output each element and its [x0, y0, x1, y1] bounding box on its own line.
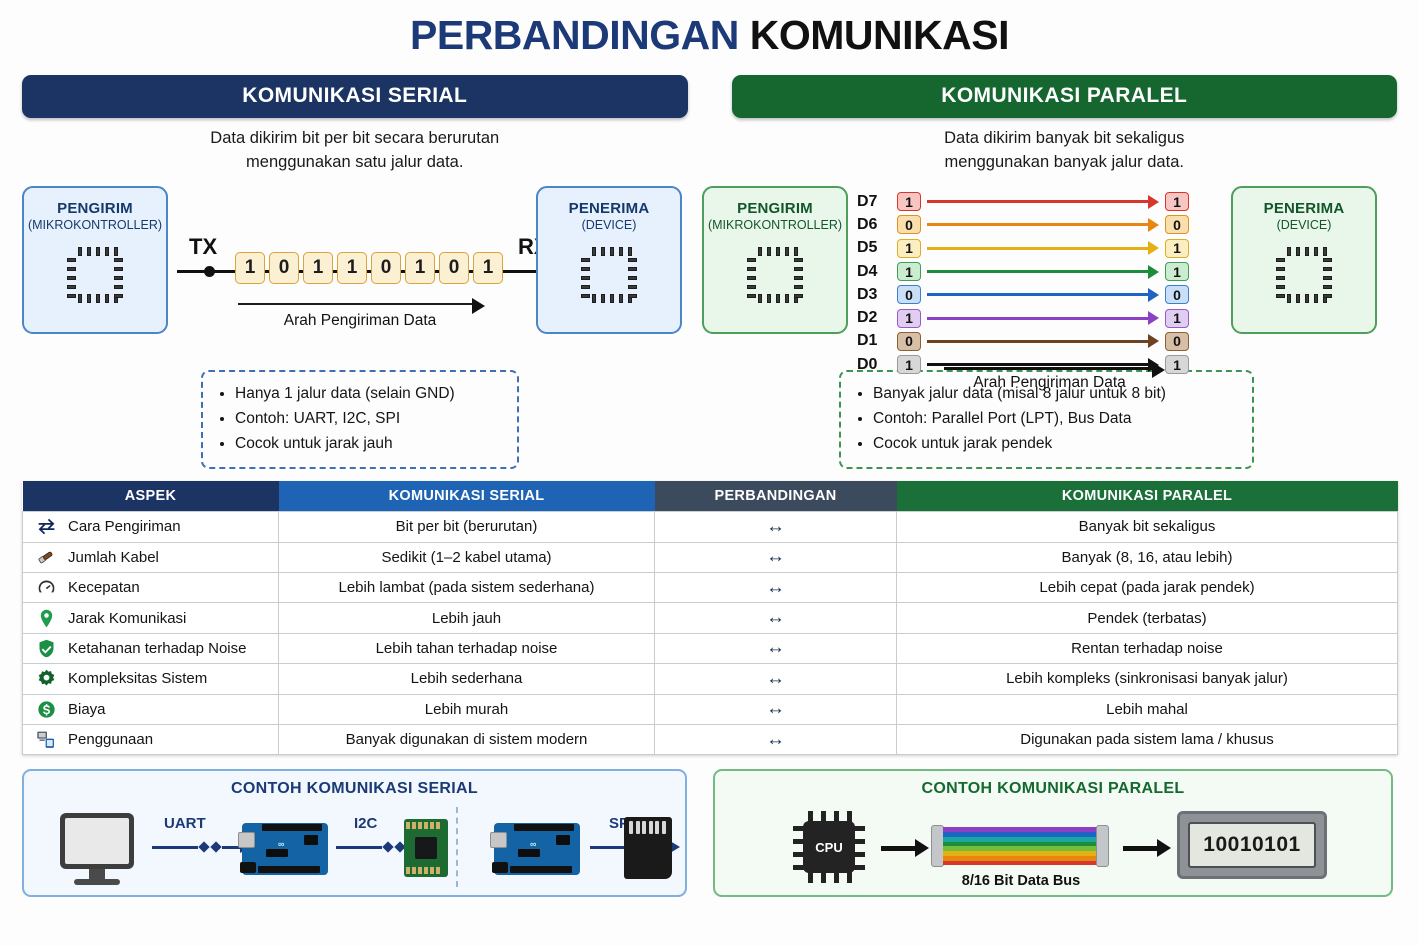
table-row: BiayaLebih murah↔Lebih mahal	[23, 694, 1398, 724]
cell-compare-3: ↔	[655, 603, 897, 633]
i2c-label: I2C	[354, 815, 377, 832]
lane-bit-d3-source: 0	[897, 285, 921, 304]
example-divider	[456, 807, 458, 887]
lane-label-d6: D6	[857, 216, 897, 234]
cable-icon	[35, 546, 57, 568]
header-paralel: KOMUNIKASI PARALEL	[897, 481, 1398, 512]
serial-receiver-title: PENERIMA	[569, 200, 650, 217]
lane-bit-d6-source: 0	[897, 215, 921, 234]
parallel-banner-subtitle: Data dikirim banyak bit sekaligus menggu…	[732, 118, 1398, 174]
table-row: Jumlah KabelSedikit (1–2 kabel utama)↔Ba…	[23, 542, 1398, 572]
transfer-arrows-icon	[35, 516, 57, 538]
serial-direction-label: Arah Pengiriman Data	[235, 312, 485, 330]
lane-label-d4: D4	[857, 263, 897, 281]
dollar-coin-icon	[35, 698, 57, 720]
cell-parallel-0: Banyak bit sekaligus	[897, 512, 1398, 542]
cell-parallel-6: Lebih mahal	[897, 694, 1398, 724]
header-perbandingan: PERBANDINGAN	[655, 481, 897, 512]
parallel-diagram: PENGIRIM (MIKROKONTROLLER) D711D600D511D…	[702, 186, 1377, 366]
cell-compare-7: ↔	[655, 724, 897, 754]
parallel-direction-line	[944, 367, 1154, 370]
serial-sender-title: PENGIRIM	[57, 200, 133, 217]
serial-bit-4: 0	[371, 252, 401, 284]
serial-sender-subtitle: (MIKROKONTROLLER)	[28, 218, 162, 232]
lane-bit-d2-source: 1	[897, 309, 921, 328]
lane-bit-d4-source: 1	[897, 262, 921, 281]
cell-parallel-1: Banyak (8, 16, atau lebih)	[897, 542, 1398, 572]
table-row: Cara PengirimanBit per bit (berurutan)↔B…	[23, 512, 1398, 542]
lane-wire-d1	[927, 340, 1159, 343]
parallel-sender-node: PENGIRIM (MIKROKONTROLLER)	[702, 186, 848, 334]
page-title: PERBANDINGAN KOMUNIKASI	[0, 0, 1419, 59]
serial-bullet-box: Hanya 1 jalur data (selain GND)Contoh: U…	[201, 370, 519, 469]
lane-bit-d1-source: 0	[897, 332, 921, 351]
microcontroller-chip-icon	[66, 246, 124, 304]
serial-bit-stream: 10110101	[235, 252, 503, 284]
table-row: KecepatanLebih lambat (pada sistem seder…	[23, 573, 1398, 603]
cell-aspect-6: Biaya	[23, 694, 279, 724]
cell-parallel-5: Lebih kompleks (sinkronisasi banyak jalu…	[897, 664, 1398, 694]
bullet-row: Hanya 1 jalur data (selain GND)Contoh: U…	[0, 366, 1419, 469]
cell-serial-3: Lebih jauh	[279, 603, 655, 633]
title-part-2: KOMUNIKASI	[750, 12, 1009, 58]
serial-receiver-subtitle: (DEVICE)	[582, 218, 637, 232]
parallel-bullet-1: Contoh: Parallel Port (LPT), Bus Data	[873, 406, 1238, 431]
cell-compare-5: ↔	[655, 664, 897, 694]
lane-wire-d6	[927, 223, 1159, 226]
lane-bit-d6-dest: 0	[1165, 215, 1189, 234]
aspect-label: Kecepatan	[68, 579, 140, 596]
parallel-sender-title: PENGIRIM	[737, 200, 813, 217]
cpu-to-bus-arrow-icon	[881, 839, 929, 857]
lane-label-d3: D3	[857, 286, 897, 304]
serial-example-panel: CONTOH KOMUNIKASI SERIAL UART ∞ I2C	[22, 769, 687, 897]
banner-row: KOMUNIKASI SERIAL Data dikirim bit per b…	[0, 59, 1419, 174]
compare-arrow-icon: ↔	[766, 698, 785, 719]
lane-bit-d5-source: 1	[897, 239, 921, 258]
table-row: Kompleksitas SistemLebih sederhana↔Lebih…	[23, 664, 1398, 694]
parallel-banner: KOMUNIKASI PARALEL	[732, 75, 1398, 118]
lane-wire-d0	[927, 363, 1159, 366]
header-serial: KOMUNIKASI SERIAL	[279, 481, 655, 512]
microcontroller-chip-icon	[746, 246, 804, 304]
serial-diagram: PENGIRIM (MIKROKONTROLLER) TX RX 1011010…	[22, 186, 682, 341]
location-pin-icon	[35, 607, 57, 629]
table-head: ASPEK KOMUNIKASI SERIAL PERBANDINGAN KOM…	[23, 481, 1398, 512]
bus-to-display-arrow-icon	[1123, 839, 1171, 857]
lane-label-d5: D5	[857, 239, 897, 257]
cell-serial-6: Lebih murah	[279, 694, 655, 724]
serial-banner-column: KOMUNIKASI SERIAL Data dikirim bit per b…	[22, 75, 688, 174]
devices-icon	[35, 729, 57, 751]
aspect-label: Jumlah Kabel	[68, 549, 159, 566]
lane-label-d2: D2	[857, 309, 897, 327]
comparison-table-wrapper: ASPEK KOMUNIKASI SERIAL PERBANDINGAN KOM…	[0, 469, 1419, 756]
lane-d6: D600	[857, 213, 1189, 236]
table-body: Cara PengirimanBit per bit (berurutan)↔B…	[23, 512, 1398, 755]
serial-banner: KOMUNIKASI SERIAL	[22, 75, 688, 118]
compare-arrow-icon: ↔	[766, 637, 785, 658]
lane-label-d1: D1	[857, 332, 897, 350]
parallel-receiver-subtitle: (DEVICE)	[1277, 218, 1332, 232]
table-header-row: ASPEK KOMUNIKASI SERIAL PERBANDINGAN KOM…	[23, 481, 1398, 512]
tx-label: TX	[189, 234, 217, 260]
serial-bit-0: 1	[235, 252, 265, 284]
parallel-sender-subtitle: (MIKROKONTROLLER)	[708, 218, 842, 232]
serial-bullet-1: Contoh: UART, I2C, SPI	[235, 406, 503, 431]
lane-bit-d3-dest: 0	[1165, 285, 1189, 304]
serial-bit-6: 0	[439, 252, 469, 284]
serial-bullet-2: Cocok untuk jarak jauh	[235, 431, 503, 456]
aspect-label: Biaya	[68, 701, 106, 718]
cell-serial-2: Lebih lambat (pada sistem sederhana)	[279, 573, 655, 603]
serial-subtitle-line-2: menggunakan satu jalur data.	[22, 151, 688, 174]
serial-bullet-0: Hanya 1 jalur data (selain GND)	[235, 381, 503, 406]
display-value: 10010101	[1188, 822, 1316, 868]
cell-serial-0: Bit per bit (berurutan)	[279, 512, 655, 542]
lane-wire-d4	[927, 270, 1159, 273]
cell-aspect-4: Ketahanan terhadap Noise	[23, 633, 279, 663]
uart-label: UART	[164, 815, 206, 832]
aspect-label: Kompleksitas Sistem	[68, 670, 207, 687]
serial-bit-2: 1	[303, 252, 333, 284]
cell-parallel-4: Rentan terhadap noise	[897, 633, 1398, 663]
compare-arrow-icon: ↔	[766, 577, 785, 598]
lane-d0: D011	[857, 353, 1189, 376]
serial-tap-dot	[204, 266, 215, 277]
lane-bit-d0-source: 1	[897, 355, 921, 374]
parallel-example-title: CONTOH KOMUNIKASI PARALEL	[715, 771, 1391, 798]
serial-bit-7: 1	[473, 252, 503, 284]
lane-bit-d7-dest: 1	[1165, 192, 1189, 211]
table-row: PenggunaanBanyak digunakan di sistem mod…	[23, 724, 1398, 754]
diagram-row: PENGIRIM (MIKROKONTROLLER) TX RX 1011010…	[0, 174, 1419, 366]
serial-banner-subtitle: Data dikirim bit per bit secara beruruta…	[22, 118, 688, 174]
sensor-module-icon	[404, 819, 448, 877]
parallel-lane-list: D711D600D511D411D300D211D100D011	[857, 190, 1189, 376]
parallel-direction-label: Arah Pengiriman Data	[912, 374, 1187, 392]
lane-d1: D100	[857, 330, 1189, 353]
cell-parallel-2: Lebih cepat (pada jarak pendek)	[897, 573, 1398, 603]
lane-d7: D711	[857, 190, 1189, 213]
parallel-example-panel: CONTOH KOMUNIKASI PARALEL CPU 8/16 Bit D…	[713, 769, 1393, 897]
device-chip-icon	[1275, 246, 1333, 304]
serial-bit-3: 1	[337, 252, 367, 284]
parallel-display: 10010101	[1177, 811, 1327, 879]
compare-arrow-icon: ↔	[766, 729, 785, 750]
uart-arrow-icon	[152, 841, 250, 853]
parallel-bullet-2: Cocok untuk jarak pendek	[873, 431, 1238, 456]
cpu-chip-icon: CPU	[793, 811, 865, 883]
cpu-label: CPU	[803, 821, 855, 873]
compare-arrow-icon: ↔	[766, 668, 785, 689]
cell-compare-0: ↔	[655, 512, 897, 542]
aspect-label: Ketahanan terhadap Noise	[68, 640, 246, 657]
lane-wire-d2	[927, 317, 1159, 320]
lane-wire-d3	[927, 293, 1159, 296]
cell-serial-5: Lebih sederhana	[279, 664, 655, 694]
cell-serial-4: Lebih tahan terhadap noise	[279, 633, 655, 663]
cell-parallel-7: Digunakan pada sistem lama / khusus	[897, 724, 1398, 754]
cell-aspect-7: Penggunaan	[23, 724, 279, 754]
example-panels-row: CONTOH KOMUNIKASI SERIAL UART ∞ I2C	[0, 755, 1419, 897]
cell-compare-6: ↔	[655, 694, 897, 724]
serial-example-content: UART ∞ I2C	[24, 805, 685, 891]
compare-arrow-icon: ↔	[766, 546, 785, 567]
gear-icon	[35, 668, 57, 690]
lane-bit-d0-dest: 1	[1165, 355, 1189, 374]
serial-subtitle-line-1: Data dikirim bit per bit secara beruruta…	[22, 127, 688, 150]
lane-d2: D211	[857, 306, 1189, 329]
data-bus-label: 8/16 Bit Data Bus	[911, 873, 1131, 889]
table-row: Jarak KomunikasiLebih jauh↔Pendek (terba…	[23, 603, 1398, 633]
serial-example-title: CONTOH KOMUNIKASI SERIAL	[24, 771, 685, 798]
aspect-label: Jarak Komunikasi	[68, 610, 186, 627]
parallel-banner-column: KOMUNIKASI PARALEL Data dikirim banyak b…	[732, 75, 1398, 174]
lane-label-d7: D7	[857, 193, 897, 211]
serial-bit-5: 1	[405, 252, 435, 284]
sd-card-icon	[624, 817, 672, 879]
aspect-label: Penggunaan	[68, 731, 153, 748]
parallel-receiver-node: PENERIMA (DEVICE)	[1231, 186, 1377, 334]
lane-bit-d4-dest: 1	[1165, 262, 1189, 281]
cell-parallel-3: Pendek (terbatas)	[897, 603, 1398, 633]
shield-check-icon	[35, 637, 57, 659]
parallel-example-content: CPU 8/16 Bit Data Bus 10010101	[715, 805, 1391, 891]
lane-d4: D411	[857, 260, 1189, 283]
lane-wire-d5	[927, 247, 1159, 250]
cell-serial-1: Sedikit (1–2 kabel utama)	[279, 542, 655, 572]
lane-wire-d7	[927, 200, 1159, 203]
arduino-board-icon: ∞	[242, 823, 328, 875]
comparison-table: ASPEK KOMUNIKASI SERIAL PERBANDINGAN KOM…	[22, 481, 1398, 756]
title-part-1: PERBANDINGAN	[410, 12, 739, 58]
lane-bit-d2-dest: 1	[1165, 309, 1189, 328]
lane-label-d0: D0	[857, 356, 897, 374]
serial-receiver-node: PENERIMA (DEVICE)	[536, 186, 682, 334]
cell-serial-7: Banyak digunakan di sistem modern	[279, 724, 655, 754]
compare-arrow-icon: ↔	[766, 607, 785, 628]
arduino-board-icon-2: ∞	[494, 823, 580, 875]
lane-d3: D300	[857, 283, 1189, 306]
parallel-receiver-title: PENERIMA	[1264, 200, 1345, 217]
aspect-label: Cara Pengiriman	[68, 518, 181, 535]
compare-arrow-icon: ↔	[766, 516, 785, 537]
device-chip-icon	[580, 246, 638, 304]
cell-compare-4: ↔	[655, 633, 897, 663]
serial-bit-1: 0	[269, 252, 299, 284]
header-aspek: ASPEK	[23, 481, 279, 512]
cell-aspect-3: Jarak Komunikasi	[23, 603, 279, 633]
parallel-subtitle-line-2: menggunakan banyak jalur data.	[732, 151, 1398, 174]
cell-aspect-1: Jumlah Kabel	[23, 542, 279, 572]
lane-bit-d7-source: 1	[897, 192, 921, 211]
cell-aspect-0: Cara Pengiriman	[23, 512, 279, 542]
serial-sender-node: PENGIRIM (MIKROKONTROLLER)	[22, 186, 168, 334]
lane-bit-d1-dest: 0	[1165, 332, 1189, 351]
cell-aspect-2: Kecepatan	[23, 573, 279, 603]
table-row: Ketahanan terhadap NoiseLebih tahan terh…	[23, 633, 1398, 663]
speedometer-icon	[35, 577, 57, 599]
cell-compare-1: ↔	[655, 542, 897, 572]
cell-aspect-5: Kompleksitas Sistem	[23, 664, 279, 694]
lane-bit-d5-dest: 1	[1165, 239, 1189, 258]
parallel-subtitle-line-1: Data dikirim banyak bit sekaligus	[732, 127, 1398, 150]
lane-d5: D511	[857, 237, 1189, 260]
monitor-icon	[60, 813, 134, 885]
ribbon-strand-7	[943, 861, 1099, 866]
serial-direction-line	[238, 303, 473, 306]
ribbon-cable-icon	[931, 825, 1109, 867]
cell-compare-2: ↔	[655, 573, 897, 603]
